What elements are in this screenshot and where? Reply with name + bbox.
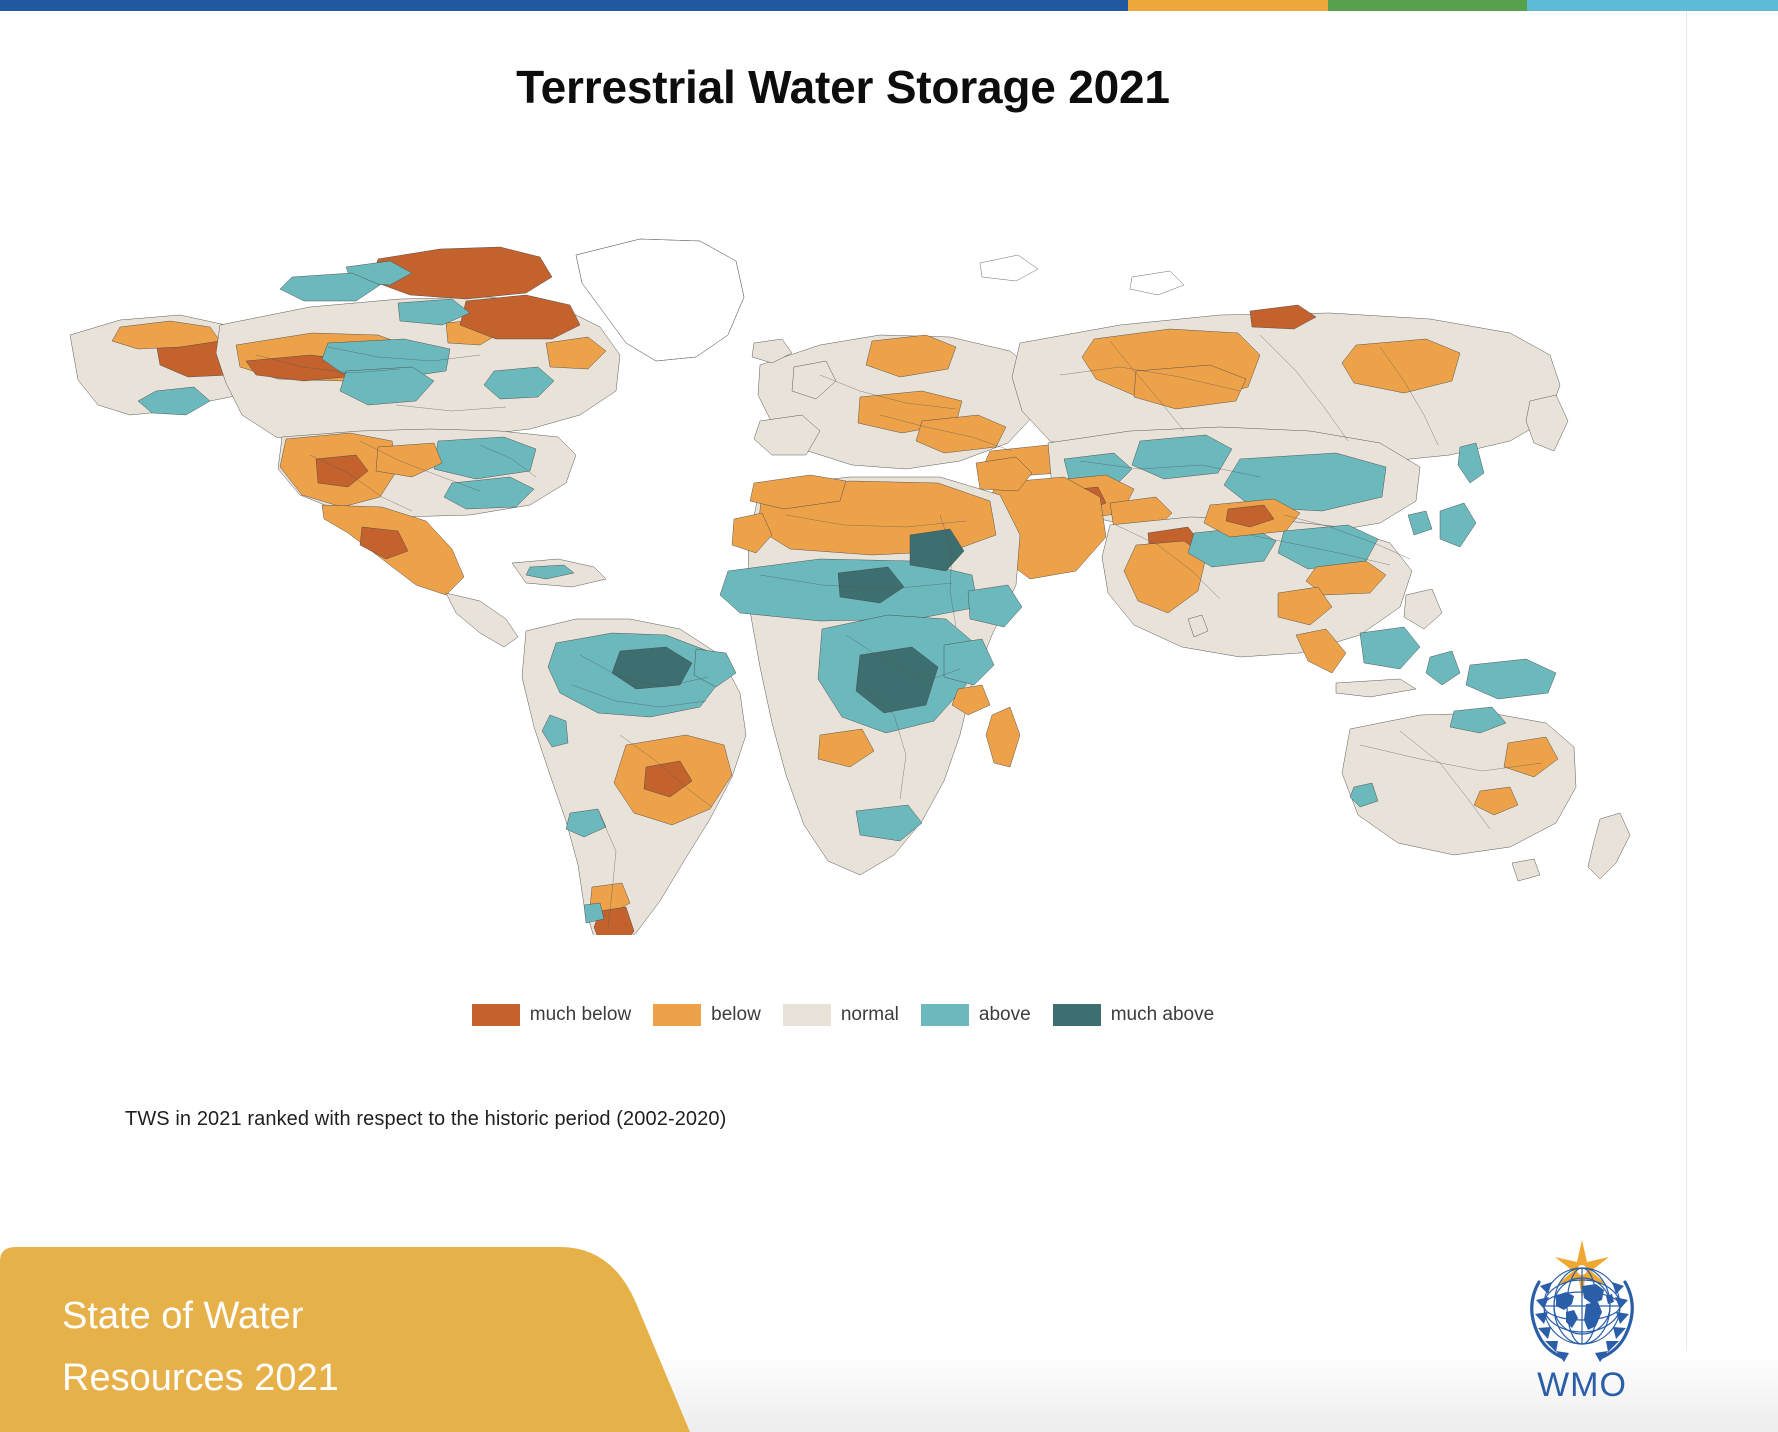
slide-root: Terrestrial Water Storage 2021 [0,0,1778,1432]
legend-label-much-above: much above [1111,1004,1215,1026]
region-sakhalin-above [1458,443,1484,483]
legend-item-above: above [921,1004,1031,1026]
map-layers [70,239,1630,935]
legend-swatch-below [653,1004,701,1026]
legend-label-normal: normal [841,1004,899,1026]
top-accent-bar [0,0,1778,11]
banner-line-1: State of Water [62,1285,339,1347]
region-central-america [446,593,518,647]
region-sulawesi-above [1426,651,1460,685]
wmo-logo-svg: WMO [1512,1238,1652,1403]
banner-line-2: Resources 2021 [62,1347,339,1409]
wmo-logo: WMO [1512,1238,1652,1403]
region-java [1336,679,1416,697]
wmo-globe-icon [1544,1268,1620,1344]
legend-swatch-normal [783,1004,831,1026]
legend-item-much-above: much above [1053,1004,1215,1026]
legend-label-much-below: much below [530,1004,631,1026]
legend-label-above: above [979,1004,1031,1026]
region-new-guinea-above [1466,659,1556,699]
region-kamchatka [1526,395,1568,451]
banner-text: State of Water Resources 2021 [62,1285,339,1409]
region-philippines [1404,589,1442,629]
world-map [60,215,1640,935]
region-southern-africa-above [856,805,922,841]
legend-swatch-much-below [472,1004,520,1026]
legend-swatch-much-above [1053,1004,1101,1026]
wmo-wordmark: WMO [1537,1366,1627,1403]
accent-segment-orange [1128,0,1328,11]
accent-segment-blue [0,0,1128,11]
region-borneo-above [1360,627,1420,669]
map-legend: much below below normal above much above [0,1004,1686,1026]
slide-right-edge [1686,11,1687,1351]
legend-label-below: below [711,1004,761,1026]
region-japan-above [1440,503,1476,547]
map-caption: TWS in 2021 ranked with respect to the h… [125,1108,726,1131]
world-map-svg [60,215,1640,935]
region-tasmania [1512,859,1540,881]
accent-segment-green [1328,0,1527,11]
page-title: Terrestrial Water Storage 2021 [0,60,1686,114]
legend-item-normal: normal [783,1004,899,1026]
region-korea-above [1408,511,1432,535]
region-australia-base [1342,713,1576,855]
legend-swatch-above [921,1004,969,1026]
accent-segment-cyan [1527,0,1778,11]
legend-item-much-below: much below [472,1004,631,1026]
region-madagascar-below [986,707,1020,767]
legend-item-below: below [653,1004,761,1026]
region-new-zealand [1588,813,1630,879]
